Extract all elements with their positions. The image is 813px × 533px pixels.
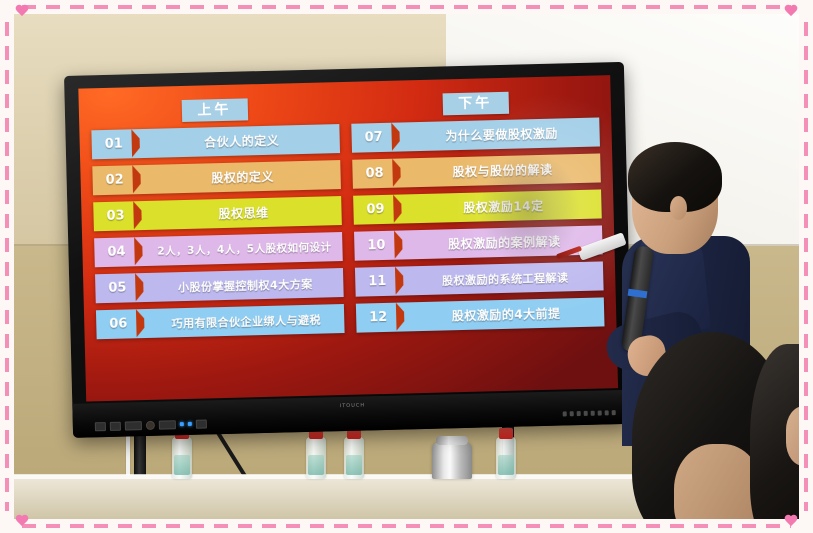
agenda-row[interactable]: 08 股权与股份的解读 <box>352 154 601 189</box>
room-scene: 上午 下午 01 合伙人的 <box>14 14 799 519</box>
frame-dashes-top <box>22 5 791 9</box>
photo-canvas: 上午 下午 01 合伙人的 <box>0 0 813 533</box>
display-screen: 上午 下午 01 合伙人的 <box>78 75 618 401</box>
row-label: 2人，3人，4人，5人股权如何设计 <box>138 232 343 266</box>
frame-dashes-bottom <box>22 524 791 528</box>
power-button-icon[interactable] <box>196 419 207 428</box>
row-number: 08 <box>352 159 397 189</box>
header-afternoon-label: 下午 <box>442 92 509 116</box>
row-number: 09 <box>353 195 398 225</box>
row-number: 10 <box>354 231 399 261</box>
row-number: 06 <box>96 309 141 339</box>
row-number: 07 <box>351 123 396 153</box>
header-morning-label: 上午 <box>181 98 248 122</box>
agenda-slide: 上午 下午 01 合伙人的 <box>78 75 618 401</box>
agenda-row[interactable]: 01 合伙人的定义 <box>91 124 340 159</box>
agenda-row[interactable]: 04 2人，3人，4人，5人股权如何设计 <box>94 232 343 267</box>
audio-jack-icon <box>146 420 155 429</box>
water-bottle <box>172 437 192 479</box>
row-label: 小股份掌握控制权4大方案 <box>139 268 344 302</box>
row-number: 11 <box>355 267 400 297</box>
agenda-row[interactable]: 02 股权的定义 <box>92 160 341 195</box>
power-led-icon <box>180 422 184 426</box>
row-label: 股权的定义 <box>136 160 341 194</box>
row-label: 股权激励的4大前提 <box>400 298 605 332</box>
row-number: 04 <box>94 237 139 267</box>
row-label: 股权激励14定 <box>397 190 602 224</box>
vga-port-icon <box>159 420 176 429</box>
usb-port-icon <box>95 422 106 431</box>
row-number: 12 <box>356 303 401 333</box>
interactive-display[interactable]: 上午 下午 01 合伙人的 <box>64 62 633 438</box>
agenda-row[interactable]: 05 小股份掌握控制权4大方案 <box>95 268 344 303</box>
agenda-row[interactable]: 06 巧用有限合伙企业绑人与避税 <box>96 304 345 339</box>
frame-band-left <box>0 0 14 533</box>
thermos-flask <box>432 443 472 479</box>
hdmi-port-icon <box>125 421 142 430</box>
header-col-afternoon: 下午 <box>352 89 599 117</box>
agenda-row[interactable]: 11 股权激励的系统工程解读 <box>355 262 604 297</box>
row-label: 巧用有限合伙企业绑人与避税 <box>140 304 345 338</box>
ir-sensor-strip <box>563 410 621 416</box>
row-label: 股权激励的系统工程解读 <box>399 262 604 296</box>
usb-port-icon <box>110 421 121 430</box>
display-port-panel[interactable] <box>95 416 243 434</box>
row-label: 股权思维 <box>137 196 342 230</box>
row-label: 合伙人的定义 <box>135 124 340 158</box>
agenda-row[interactable]: 07 为什么要做股权激励 <box>351 118 600 153</box>
audience-member-front-face <box>674 444 762 519</box>
frame-band-right <box>799 0 813 533</box>
row-number: 01 <box>91 129 136 159</box>
agenda-column-afternoon: 07 为什么要做股权激励 08 股权与股份的解读 <box>351 118 604 333</box>
row-label: 为什么要做股权激励 <box>395 118 600 152</box>
frame-band-bottom <box>0 519 813 533</box>
row-label: 股权与股份的解读 <box>396 154 601 188</box>
water-bottle <box>306 437 326 479</box>
row-label: 股权激励的案例解读 <box>398 226 603 260</box>
frame-dashes-right <box>804 22 808 511</box>
water-bottle <box>496 437 516 479</box>
row-number: 05 <box>95 273 140 303</box>
presenter-ear <box>670 196 687 220</box>
display-brand-logo: ITOUCH <box>340 402 366 409</box>
row-number: 03 <box>93 201 138 231</box>
frame-dashes-left <box>5 22 9 511</box>
agenda-columns: 01 合伙人的定义 02 股权的定义 <box>91 118 604 340</box>
frame-band-top <box>0 0 813 14</box>
water-bottle <box>344 437 364 479</box>
agenda-row[interactable]: 09 股权激励14定 <box>353 190 602 225</box>
header-col-morning: 上午 <box>91 96 338 124</box>
status-led-icon <box>188 422 192 426</box>
row-number: 02 <box>92 165 137 195</box>
agenda-row[interactable]: 03 股权思维 <box>93 196 342 231</box>
agenda-row[interactable]: 12 股权激励的4大前提 <box>356 298 605 333</box>
agenda-column-morning: 01 合伙人的定义 02 股权的定义 <box>91 124 344 339</box>
